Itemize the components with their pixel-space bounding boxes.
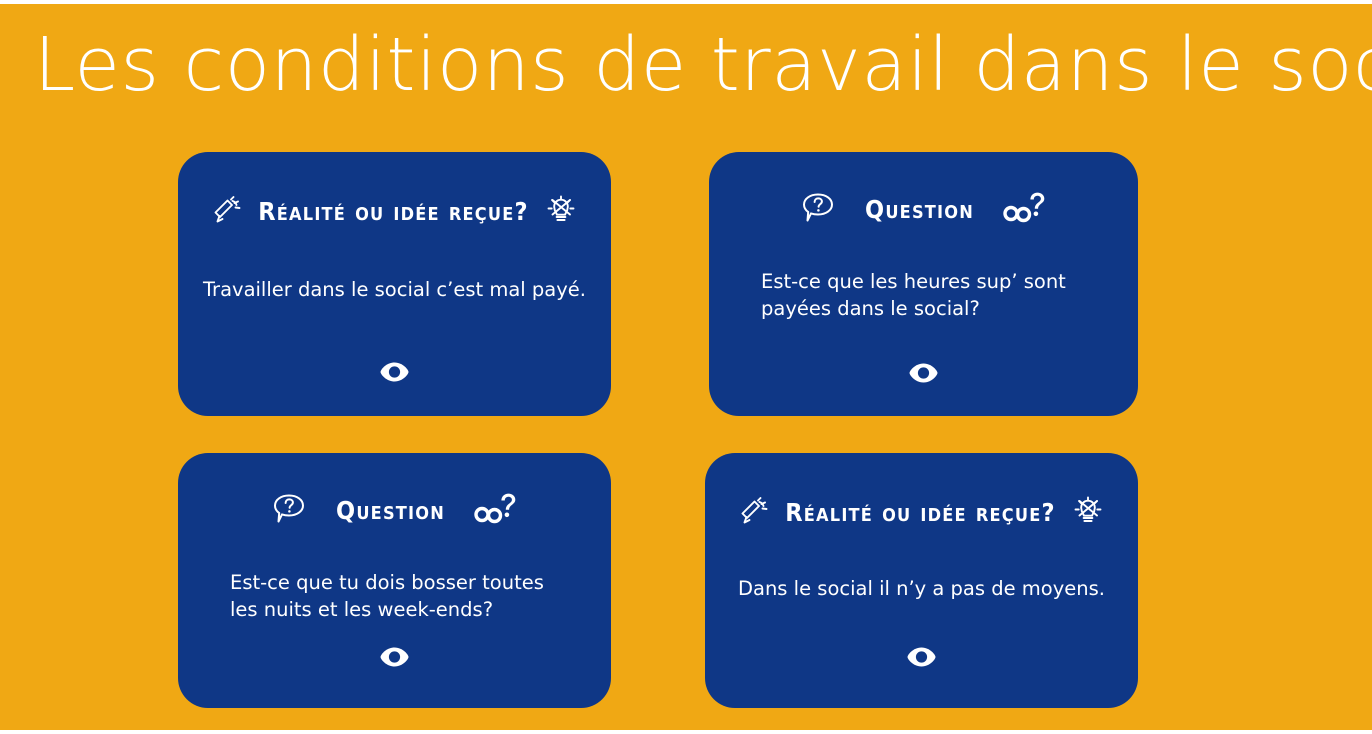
glasses-question-icon	[1002, 187, 1048, 232]
card-header: QUestion	[178, 487, 611, 533]
page-title: Les conditions de travail dans le social	[34, 22, 1354, 108]
card-action-row	[705, 646, 1138, 668]
card-header: QUestion	[709, 186, 1138, 232]
speech-bubble-question-icon	[799, 189, 837, 230]
eye-icon[interactable]	[379, 646, 410, 668]
card-body-line: les nuits et les week-ends?	[230, 596, 611, 623]
card-body-line: payées dans le social?	[761, 295, 1138, 322]
card-reality-mal-paye[interactable]: Réalité ou idée reçue?	[178, 152, 611, 416]
lightbulb-crossed-icon	[1070, 492, 1106, 533]
card-reality-pas-de-moyens[interactable]: Réalité ou idée reçue?	[705, 453, 1138, 708]
card-body-text: Dans le social il n’y a pas de moyens.	[705, 575, 1138, 602]
poster-canvas: Les conditions de travail dans le social	[0, 4, 1372, 730]
eye-icon[interactable]	[379, 361, 410, 383]
card-header: Réalité ou idée reçue?	[178, 188, 611, 234]
card-action-row	[709, 362, 1138, 384]
page-root: Les conditions de travail dans le social	[0, 0, 1372, 734]
glasses-question-icon	[473, 488, 519, 533]
eye-icon[interactable]	[908, 362, 939, 384]
megaphone-icon	[737, 493, 771, 532]
eye-icon[interactable]	[906, 646, 937, 668]
speech-bubble-question-icon	[270, 490, 308, 531]
card-grid: Réalité ou idée reçue?	[178, 152, 1138, 708]
card-header-label: QUestion	[865, 195, 974, 224]
card-body-line: Est-ce que tu dois bosser toutes	[230, 569, 611, 596]
card-header: Réalité ou idée reçue?	[705, 489, 1138, 535]
card-header-label: QUestion	[336, 496, 445, 525]
megaphone-icon	[210, 192, 244, 231]
card-action-row	[178, 361, 611, 383]
card-body-text: Est-ce que tu dois bosser toutes les nui…	[178, 569, 611, 623]
card-header-label: Réalité ou idée reçue?	[258, 197, 528, 226]
card-action-row	[178, 646, 611, 668]
card-body-line: Est-ce que les heures sup’ sont	[761, 268, 1138, 295]
card-question-heures-sup[interactable]: QUestion	[709, 152, 1138, 416]
card-body-text: Est-ce que les heures sup’ sont payées d…	[709, 268, 1138, 322]
card-body-text: Travailler dans le social c’est mal payé…	[178, 276, 611, 303]
card-question-nuits-weekends[interactable]: QUestion	[178, 453, 611, 708]
card-header-label: Réalité ou idée reçue?	[785, 498, 1055, 527]
lightbulb-crossed-icon	[543, 191, 579, 232]
